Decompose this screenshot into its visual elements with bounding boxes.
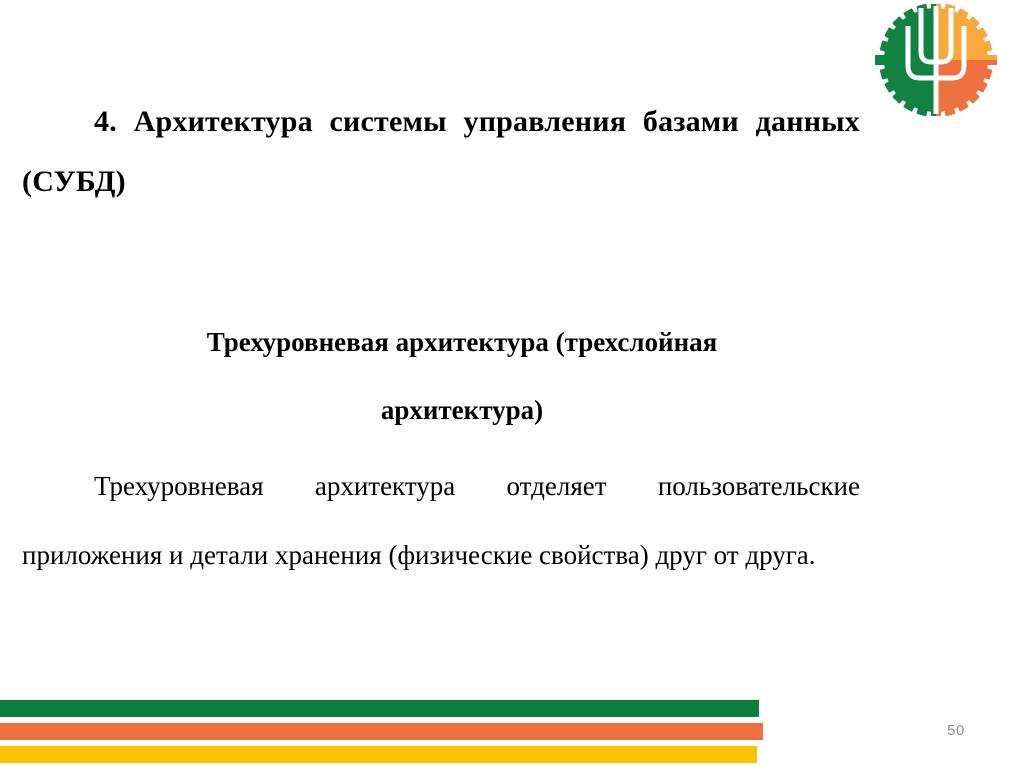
slide-canvas: 4. Архитектура системы управления базами… bbox=[0, 0, 1024, 767]
slide-title-block: 4. Архитектура системы управления базами… bbox=[22, 92, 860, 272]
page-number: 50 bbox=[936, 722, 976, 739]
subheading-line-1: Трехуровневая архитектура (трехслойная bbox=[62, 308, 862, 376]
decor-bar-yellow bbox=[0, 746, 757, 763]
decor-bar-orange bbox=[0, 723, 763, 740]
page-title: 4. Архитектура системы управления базами… bbox=[22, 92, 860, 272]
subheading-block: Трехуровневая архитектура (трехслойная а… bbox=[62, 308, 862, 444]
body-block: Трехуровневая архитектура отделяет польз… bbox=[22, 452, 860, 590]
gear-emblem-logo bbox=[875, 4, 997, 116]
body-paragraph: Трехуровневая архитектура отделяет польз… bbox=[22, 452, 860, 590]
subheading-line-2: архитектура) bbox=[62, 376, 862, 444]
decor-bar-green bbox=[0, 700, 759, 717]
